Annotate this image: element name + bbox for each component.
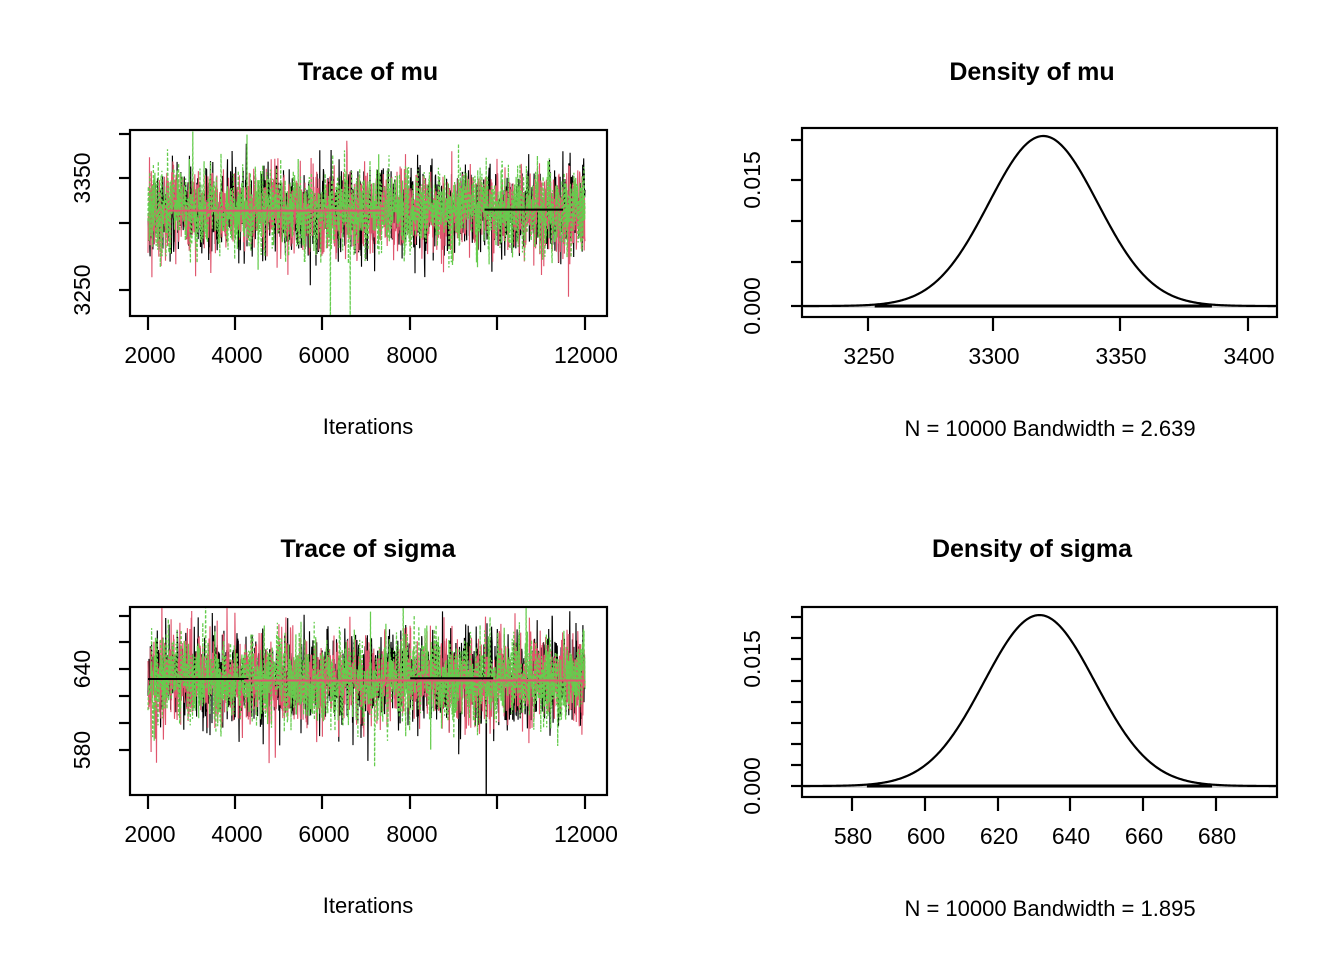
x-axis-label: Iterations	[323, 414, 414, 439]
density-curve-group	[803, 136, 1276, 307]
y-axis-ticks	[791, 140, 802, 306]
panel-density-sigma: Density of sigma 0.015 0.000	[672, 480, 1344, 960]
x-tick-label: 600	[907, 823, 945, 849]
x-tick-label: 2000	[124, 821, 175, 847]
y-tick-label: 640	[69, 650, 95, 688]
x-tick-label: 4000	[211, 821, 262, 847]
x-tick-label: 680	[1198, 823, 1236, 849]
x-axis-ticks	[148, 316, 585, 330]
y-axis-ticks	[119, 616, 130, 750]
y-tick-label: 0.000	[739, 277, 765, 335]
trace-lines	[148, 132, 585, 335]
x-tick-label: 8000	[386, 821, 437, 847]
x-tick-label: 580	[834, 823, 872, 849]
trace-lines	[148, 588, 585, 849]
trace-mu-svg: Trace of mu 3350 3250 2000	[0, 0, 672, 480]
x-axis-ticks	[868, 317, 1248, 331]
y-tick-label: 580	[69, 731, 95, 769]
x-tick-label: 6000	[298, 342, 349, 368]
x-tick-label: 12000	[554, 342, 618, 368]
y-axis-ticks	[119, 134, 130, 290]
density-curve	[803, 615, 1276, 786]
density-curve-group	[803, 615, 1276, 787]
x-tick-label: 660	[1125, 823, 1163, 849]
mcmc-diagnostic-figure: Trace of mu 3350 3250 2000	[0, 0, 1344, 960]
x-tick-label: 620	[980, 823, 1018, 849]
x-tick-label: 3350	[1095, 343, 1146, 369]
x-tick-label: 12000	[554, 821, 618, 847]
density-sublabel: N = 10000 Bandwidth = 1.895	[904, 896, 1195, 921]
y-tick-label: 0.015	[739, 151, 765, 209]
density-sublabel: N = 10000 Bandwidth = 2.639	[904, 416, 1195, 441]
x-tick-label: 3400	[1223, 343, 1274, 369]
y-tick-label: 3250	[69, 264, 95, 315]
panel-title: Trace of sigma	[280, 535, 456, 563]
density-mu-svg: Density of mu 0.015 0.000 3250 3300 3	[672, 0, 1344, 480]
panel-title: Trace of mu	[298, 58, 438, 86]
trace-chain-line	[148, 597, 585, 767]
y-tick-label: 0.015	[739, 630, 765, 688]
x-axis-ticks	[852, 797, 1216, 811]
x-tick-label: 4000	[211, 342, 262, 368]
x-tick-label: 8000	[386, 342, 437, 368]
y-tick-label: 3350	[69, 152, 95, 203]
x-axis-ticks	[148, 795, 585, 809]
y-tick-label: 0.000	[739, 757, 765, 815]
x-tick-label: 3250	[843, 343, 894, 369]
panel-trace-sigma: Trace of sigma 640 580 2000 40	[0, 480, 672, 960]
x-tick-label: 640	[1052, 823, 1090, 849]
density-sigma-svg: Density of sigma 0.015 0.000	[672, 480, 1344, 960]
panel-trace-mu: Trace of mu 3350 3250 2000	[0, 0, 672, 480]
x-tick-label: 2000	[124, 342, 175, 368]
panel-density-mu: Density of mu 0.015 0.000 3250 3300 3	[672, 0, 1344, 480]
density-curve	[803, 136, 1276, 306]
x-tick-label: 6000	[298, 821, 349, 847]
x-axis-label: Iterations	[323, 893, 414, 918]
plot-frame	[802, 128, 1277, 317]
y-axis-ticks	[791, 617, 802, 786]
panel-title: Density of sigma	[932, 535, 1133, 563]
x-tick-label: 3300	[968, 343, 1019, 369]
trace-sigma-svg: Trace of sigma 640 580 2000 40	[0, 480, 672, 960]
plot-frame	[802, 607, 1277, 797]
panel-title: Density of mu	[949, 58, 1114, 86]
